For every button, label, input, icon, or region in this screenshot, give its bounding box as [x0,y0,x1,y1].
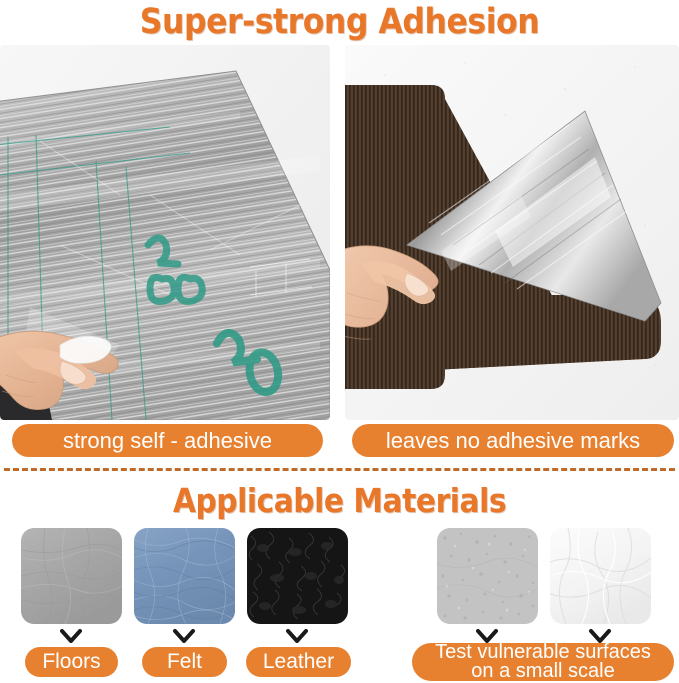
black-leather-texture-icon [247,528,348,624]
label-test-vulnerable-surfaces: Test vulnerable surfaces on a small scal… [412,643,674,681]
white-plaster-texture-icon [550,528,651,624]
section-divider [4,468,675,471]
swatch-textured-wall [437,528,538,624]
photo-adhesive-foil-tape [0,45,330,420]
photo-no-adhesive-marks [345,45,679,420]
caption-leaves-no-adhesive-marks: leaves no adhesive marks [352,424,674,457]
swatch-painted-wall [550,528,651,624]
caption-strong-self-adhesive: strong self - adhesive [12,424,323,457]
foil-tape-illustration [0,45,330,420]
gray-vinyl-floor-texture-icon [21,528,122,624]
chevron-down-icon [60,629,82,643]
label-floors: Floors [25,647,118,677]
product-infographic: Super-strong Adhesion [0,0,679,683]
label-leather: Leather [246,647,351,677]
chevron-down-icon [286,629,308,643]
page-title-adhesion: Super-strong Adhesion [34,2,645,42]
swatch-floors [21,528,122,624]
label-test-line2: on a small scale [471,662,614,681]
blue-felt-texture-icon [134,528,235,624]
swatch-leather [247,528,348,624]
label-felt: Felt [142,647,227,677]
chevron-down-icon [173,629,195,643]
section-title-applicable-materials: Applicable Materials [34,482,645,520]
swatch-felt [134,528,235,624]
gray-stucco-texture-icon [437,528,538,624]
carpet-foil-illustration [345,45,679,420]
